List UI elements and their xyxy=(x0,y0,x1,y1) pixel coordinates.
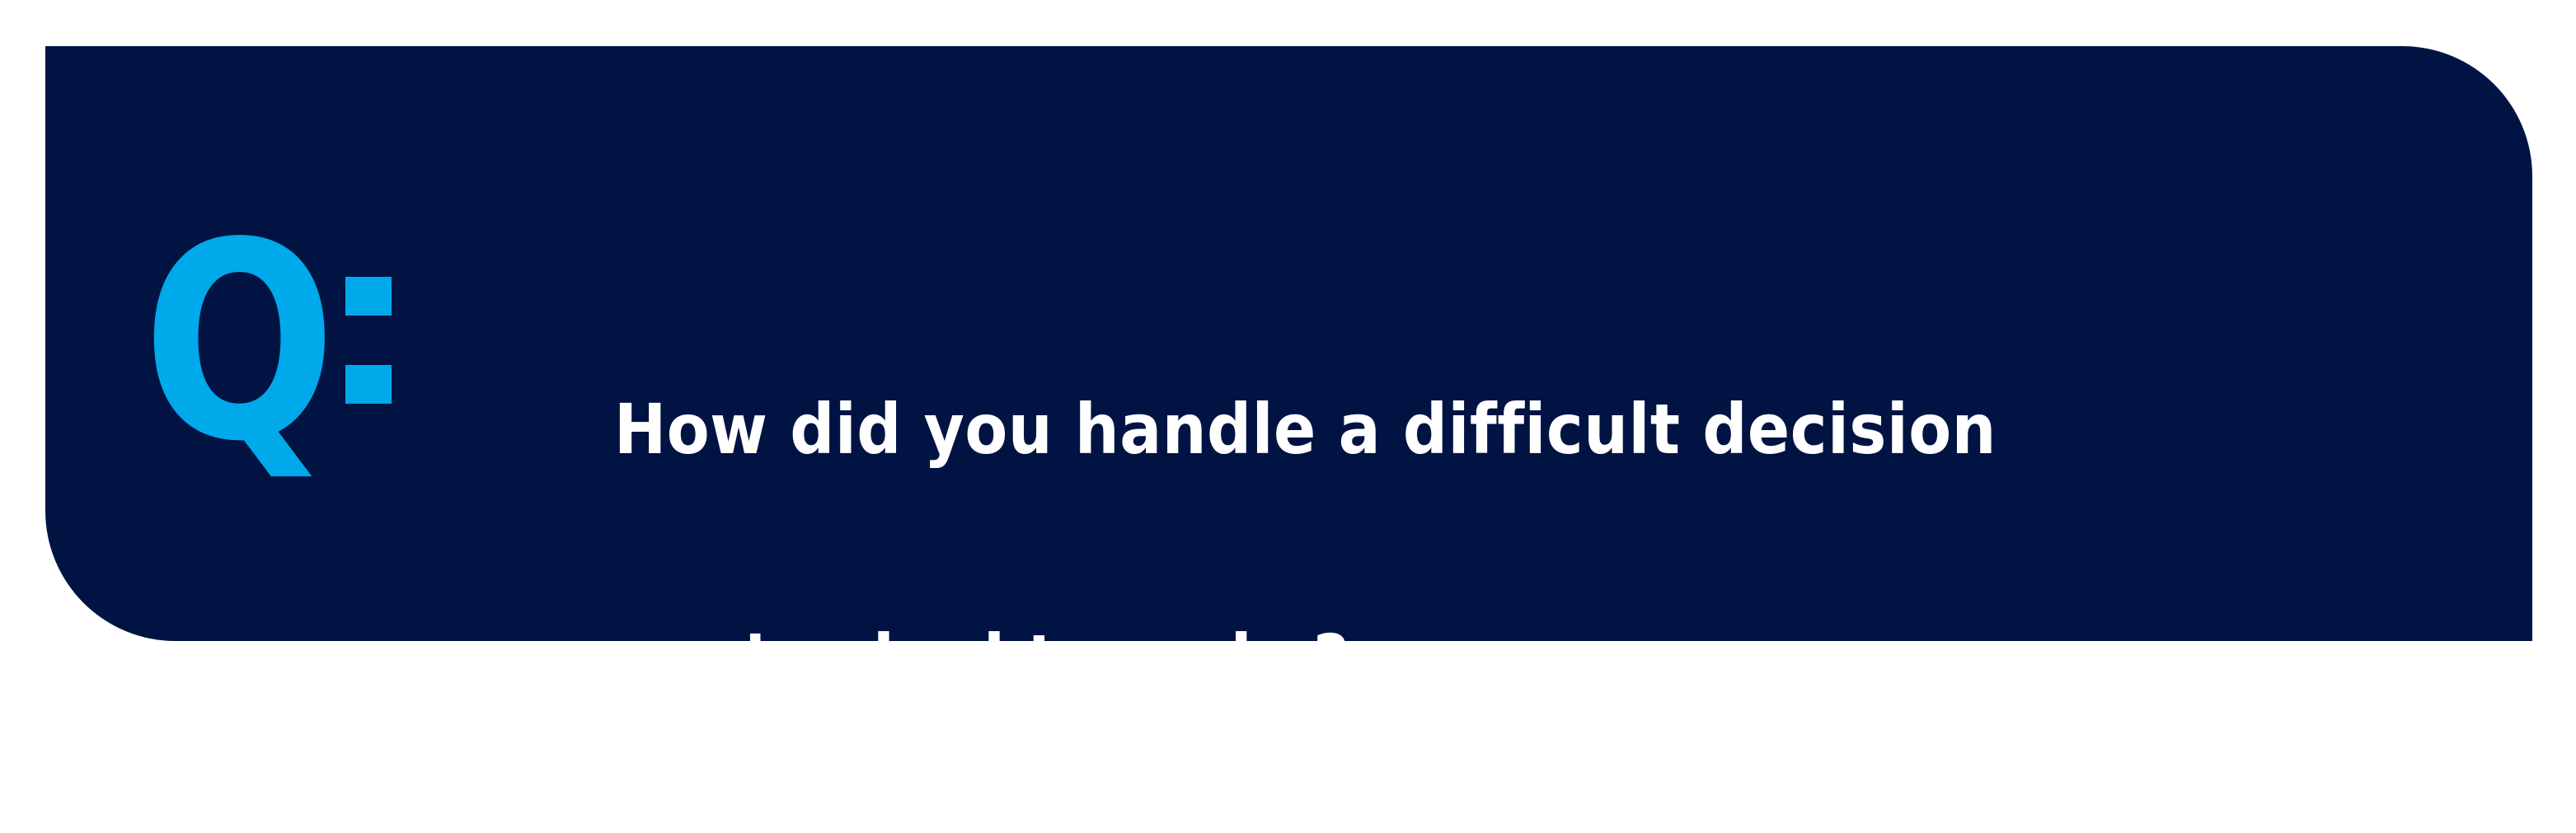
question-line-1: How did you handle a difficult decision xyxy=(614,372,2428,487)
question-line-2: you’ve had to make? xyxy=(614,602,2428,718)
question-text: How did you handle a difficult decision … xyxy=(614,256,2428,833)
question-prefix-mark: Q xyxy=(143,170,423,516)
colon-dot-bottom-icon xyxy=(345,365,392,404)
colon-dot-top-icon xyxy=(345,277,392,316)
colon-icon xyxy=(345,436,392,437)
question-card: Q How did you handle a difficult decisio… xyxy=(45,46,2532,641)
q-letter-glyph: Q xyxy=(143,170,331,516)
